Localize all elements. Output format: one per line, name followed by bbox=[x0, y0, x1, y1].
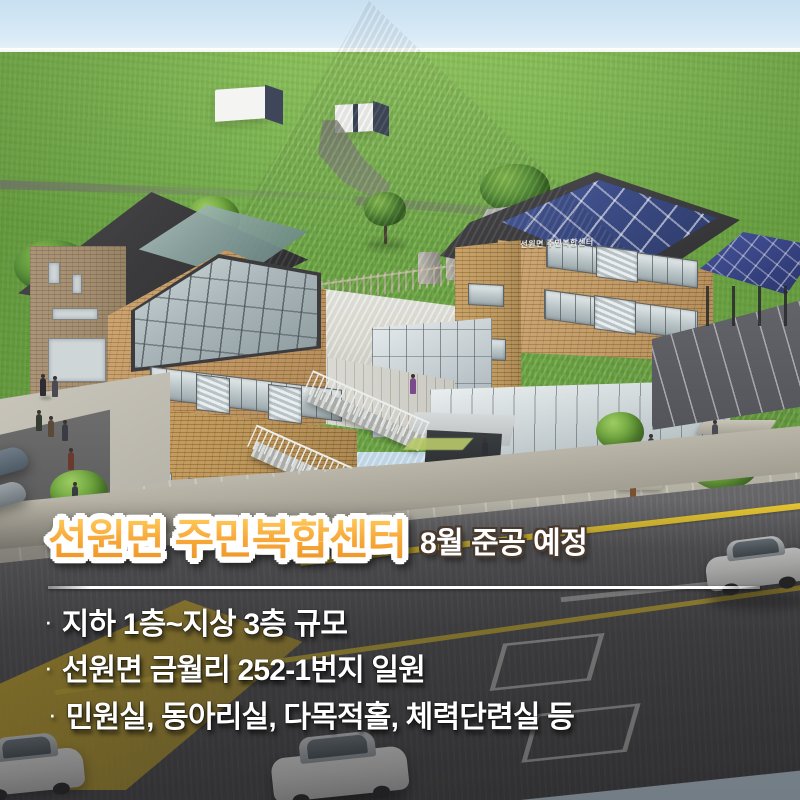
bullet-list: · 지하 1층~지상 3층 규모 · 선원면 금월리 252-1번지 일원 · … bbox=[44, 606, 784, 745]
bullet-marker-icon: · bbox=[48, 701, 57, 727]
pedestrian-9 bbox=[410, 378, 416, 394]
pedestrian-2 bbox=[52, 380, 58, 397]
right-louver-upper bbox=[596, 245, 638, 283]
left-side-window-a bbox=[48, 262, 60, 284]
pedestrian-3 bbox=[36, 414, 42, 431]
plaza-grass-strip-c bbox=[403, 438, 474, 450]
title-row: 선원면 주민복합센터 8월 준공 예정 bbox=[48, 519, 587, 562]
left-louver-a bbox=[196, 374, 230, 414]
bullet-text: 선원면 금월리 252-1번지 일원 bbox=[62, 652, 425, 690]
title-divider bbox=[48, 586, 760, 589]
poster-subtitle: 8월 준공 예정 bbox=[420, 529, 587, 562]
right-louver-lower bbox=[594, 295, 636, 335]
list-item: · 지하 1층~지상 3층 규모 bbox=[44, 606, 784, 644]
list-item: · 민원실, 동아리실, 다목적홀, 체력단련실 등 bbox=[48, 699, 784, 737]
poster-title: 선원면 주민복합센터 bbox=[48, 519, 406, 562]
bullet-marker-icon: · bbox=[44, 608, 53, 634]
pedestrian-1 bbox=[40, 378, 46, 396]
pedestrian-5 bbox=[62, 424, 68, 441]
left-side-window-d bbox=[48, 338, 106, 382]
left-side-window-b bbox=[72, 274, 82, 294]
pedestrian-shadow-1 bbox=[40, 396, 52, 400]
pedestrian-4 bbox=[48, 420, 54, 437]
carport-posts bbox=[706, 286, 800, 326]
poster-card: 선원면 주민복합센터 bbox=[0, 0, 800, 800]
bullet-marker-icon: · bbox=[44, 654, 53, 680]
list-item: · 선원면 금월리 252-1번지 일원 bbox=[44, 652, 784, 690]
left-side-window-c bbox=[52, 308, 98, 320]
pedestrian-6 bbox=[68, 452, 74, 470]
bullet-text: 민원실, 동아리실, 다목적홀, 체력단련실 등 bbox=[66, 699, 574, 737]
center-window-a bbox=[468, 283, 504, 307]
bullet-text: 지하 1층~지상 3층 규모 bbox=[62, 606, 348, 644]
